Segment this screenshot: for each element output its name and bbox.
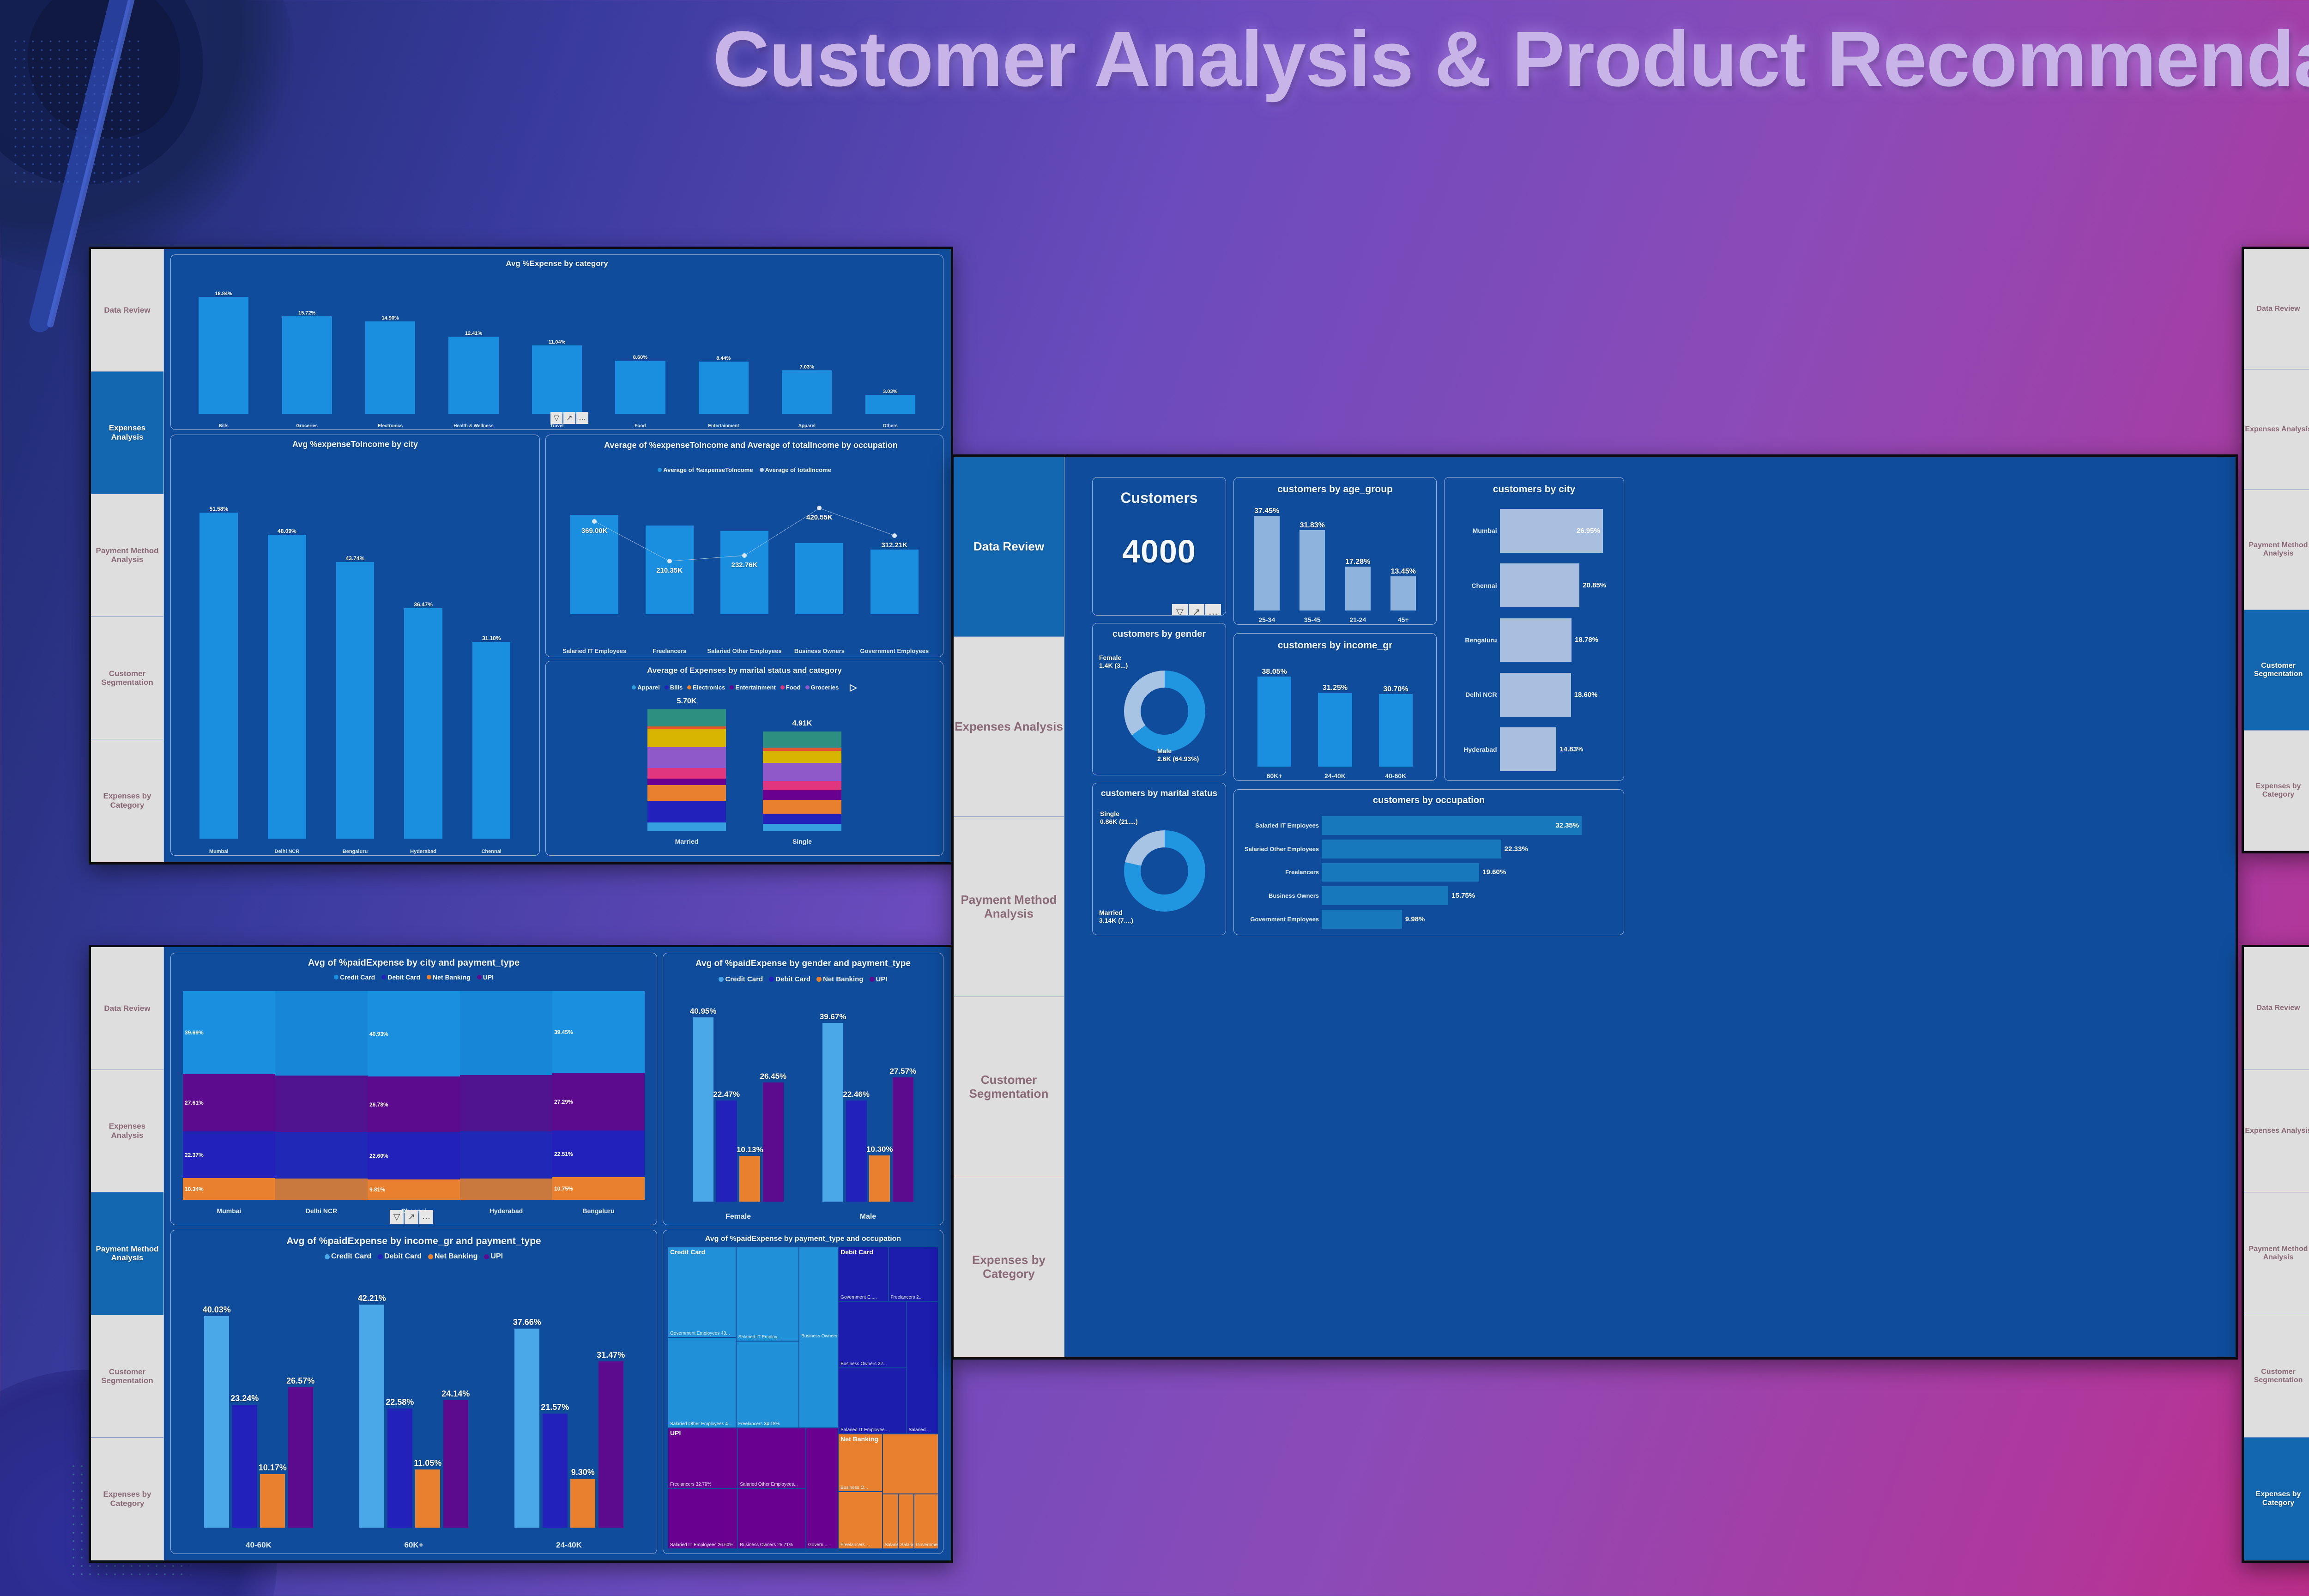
sidebar-item-expenses-analysis[interactable]: Expenses Analysis	[2244, 1070, 2309, 1193]
bar[interactable]	[615, 361, 665, 414]
treemap-cell[interactable]: Freelancers 2...	[889, 1247, 938, 1301]
bar-value-label: 13.45%	[1391, 568, 1416, 576]
treemap-group: Credit CardGovernment Employees 43...Sal…	[668, 1247, 838, 1428]
treemap-cell[interactable]: Salarie...	[882, 1494, 898, 1549]
bar-group[interactable]: 38.05%60K+	[1244, 658, 1305, 767]
bar-category-label: Bengaluru	[534, 1207, 657, 1215]
stacked-bar-column[interactable]: 5.70KMarried	[647, 709, 726, 831]
treemap-cell[interactable]: Business Owners 25.71%	[737, 1488, 806, 1549]
sidebar-item-expenses-by-category[interactable]: Expenses by Category	[954, 1177, 1064, 1357]
bar[interactable]	[288, 1387, 313, 1528]
line-value-label: 312.21K	[857, 541, 932, 549]
bar-wrapper: 40.03%	[204, 1316, 229, 1528]
chart-title: Avg %Expense by category	[171, 259, 943, 268]
stacked-segment[interactable]	[647, 785, 726, 801]
stacked-bar-column[interactable]: Delhi NCR	[275, 991, 368, 1200]
bar-category-label: Government Employees	[857, 648, 932, 655]
legend-swatch	[632, 685, 636, 689]
legend-label: Apparel	[637, 684, 659, 691]
donut-hole	[1141, 847, 1188, 895]
chart-title: Avg of %paidExpense by gender and paymen…	[663, 959, 943, 969]
stacked-segment[interactable]	[763, 800, 841, 814]
sidebar-item-expenses-analysis[interactable]: Expenses Analysis	[91, 1070, 163, 1193]
treemap-cell[interactable]: UPIFreelancers 32.79%	[668, 1428, 737, 1488]
bar-wrapper: 37.66%	[514, 1329, 539, 1528]
treemap-cell-label: Salaried IT Employ...	[738, 1335, 781, 1340]
bar[interactable]	[1318, 693, 1352, 767]
bar-row[interactable]: Salaried Other Employees22.33%	[1238, 840, 1620, 858]
bar[interactable]	[532, 345, 582, 414]
bar[interactable]	[1322, 863, 1479, 882]
treemap-left-column: Credit CardGovernment Employees 43...Sal…	[668, 1247, 838, 1549]
bar-group[interactable]: 11.04%Travel	[515, 277, 598, 414]
treemap-subcolumn: Salaried IT Employ...Freelancers 34.18%	[736, 1247, 799, 1428]
stacked-segment[interactable]: 9.81%	[368, 1179, 460, 1200]
bar[interactable]	[415, 1469, 440, 1528]
bar-row[interactable]: Delhi NCR18.60%	[1448, 673, 1620, 717]
legend-item[interactable]: Apparel	[632, 684, 659, 691]
legend-swatch	[427, 975, 431, 979]
stacked-segment[interactable]: 10.75%	[552, 1177, 645, 1200]
bar-value-label: 8.44%	[716, 356, 731, 361]
donut-callout-value: 1.4K (3...)	[1099, 662, 1128, 670]
chart-customers-by-occupation: customers by occupationSalaried IT Emplo…	[1233, 789, 1624, 935]
stacked-segment[interactable]	[275, 1132, 368, 1179]
line-series	[557, 485, 932, 614]
bar[interactable]	[1257, 677, 1292, 767]
sidebar-item-expenses-by-category[interactable]: Expenses by Category	[2244, 1438, 2309, 1560]
bar-group[interactable]: 12.41%Health & Wellness	[432, 277, 515, 414]
legend-label: UPI	[483, 973, 494, 981]
treemap-cell[interactable]: Government Emp...	[914, 1494, 938, 1549]
bar-group[interactable]: 8.60%Food	[598, 277, 682, 414]
bar-group[interactable]: 3.03%Others	[849, 277, 932, 414]
focus-mode-icon[interactable]: ↗	[1189, 604, 1204, 616]
bar[interactable]	[260, 1474, 285, 1528]
stacked-segment[interactable]: 39.45%	[552, 991, 645, 1073]
line-marker[interactable]	[667, 559, 672, 563]
sidebar-item-payment-method-analysis[interactable]: Payment Method Analysis	[2244, 1192, 2309, 1315]
bar[interactable]	[199, 297, 248, 414]
legend-label: Net Banking	[823, 975, 864, 983]
stacked-segment[interactable]	[275, 991, 368, 1076]
sidebar-item-data-review[interactable]: Data Review	[91, 249, 163, 372]
bar[interactable]	[365, 321, 415, 414]
treemap-group: UPIFreelancers 32.79%Salaried IT Employe…	[668, 1428, 838, 1549]
stacked-segment[interactable]	[647, 779, 726, 785]
stacked-segment[interactable]	[460, 1131, 552, 1179]
legend-label: UPI	[490, 1252, 503, 1261]
sidebar-item-customer-segmentation[interactable]: Customer Segmentation	[2244, 1315, 2309, 1438]
legend-item[interactable]: Bills	[665, 684, 683, 691]
sidebar-item-data-review[interactable]: Data Review	[2244, 947, 2309, 1070]
bar[interactable]	[1300, 530, 1325, 611]
bar-category-label: Government Employees	[1238, 916, 1322, 923]
bar-value-label: 42.21%	[345, 1294, 399, 1303]
stacked-segment[interactable]	[460, 991, 552, 1075]
bar[interactable]	[448, 337, 498, 414]
bar[interactable]	[739, 1156, 760, 1202]
bar-value-label: 18.78%	[1572, 636, 1598, 644]
bar[interactable]	[893, 1077, 913, 1202]
legend-item[interactable]: Average of totalIncome	[760, 466, 831, 473]
bar[interactable]	[822, 1023, 843, 1202]
treemap-subcolumn: Business Owners 22...Salaried IT Employe…	[838, 1301, 906, 1434]
legend-item[interactable]: Entertainment	[730, 684, 775, 691]
sidebar-item-customer-segmentation[interactable]: Customer Segmentation	[91, 617, 163, 740]
bar-group[interactable]: 18.84%Bills	[182, 277, 265, 414]
stacked-bar-column[interactable]: 39.69%27.61%22.37%10.34%Mumbai	[183, 991, 275, 1200]
bar-total-label: 4.91K	[763, 719, 841, 728]
bar-category-label: Salaried IT Employees	[557, 648, 632, 655]
stacked-segment[interactable]	[647, 709, 726, 726]
donut-callout-label: Married3.14K (7....)	[1099, 909, 1133, 925]
bar-value-label: 22.58%	[373, 1397, 427, 1407]
chart-legend: ApparelBillsElectronicsEntertainmentFood…	[548, 682, 941, 693]
bar-value-label: 27.57%	[880, 1067, 926, 1076]
stacked-segment[interactable]	[763, 731, 841, 748]
stacked-bar-column[interactable]: 40.93%26.78%22.60%9.81%Chennai	[368, 991, 460, 1200]
bar-group[interactable]: 14.90%Electronics	[349, 277, 432, 414]
bar-category-label: Groceries	[261, 423, 352, 429]
bar[interactable]	[693, 1017, 713, 1202]
bar-group[interactable]: 37.66%21.57%9.30%31.47%24-40K	[491, 1276, 647, 1528]
bar[interactable]	[514, 1329, 539, 1528]
chart-paid-expense-by-payment-type-and-occupation: Avg of %paidExpense by payment_type and …	[663, 1230, 943, 1554]
treemap-cell[interactable]: Salarie...	[898, 1494, 914, 1549]
sidebar-item-expenses-analysis[interactable]: Expenses Analysis	[2244, 369, 2309, 490]
sidebar-item-payment-method-analysis[interactable]: Payment Method Analysis	[91, 494, 163, 617]
legend-label: Credit Card	[331, 1252, 371, 1261]
bar-category-label: Salaried IT Employees	[1238, 822, 1322, 829]
line-marker[interactable]	[742, 553, 747, 558]
legend-swatch	[325, 1254, 330, 1259]
legend-item[interactable]: UPI	[484, 1252, 503, 1261]
bar-category-label: 60K+	[336, 1541, 491, 1550]
treemap-cell[interactable]: Freelancers ...	[838, 1492, 882, 1549]
stacked-segment[interactable]: 22.60%	[368, 1132, 460, 1179]
bar[interactable]: 26.95%	[1500, 509, 1603, 553]
bar-group[interactable]: 8.44%Entertainment	[682, 277, 765, 414]
kpi-value: 4000	[1093, 533, 1226, 570]
treemap-cell[interactable]: Business Owners ...	[799, 1247, 838, 1428]
treemap-subcolumn: Net BankingBusiness O...Freelancers ...	[838, 1434, 882, 1549]
bar-row[interactable]: Bengaluru18.78%	[1448, 618, 1620, 662]
line-value-label: 420.55K	[782, 514, 857, 521]
chart-customers-by-marital-status: customers by marital statusSingle0.86K (…	[1092, 783, 1226, 935]
bar-wrapper: 11.05%	[415, 1469, 440, 1528]
line-marker[interactable]	[592, 519, 597, 524]
bar-value-label: 22.46%	[834, 1090, 879, 1099]
stacked-segment[interactable]: 22.37%	[183, 1131, 275, 1178]
sidebar-item-customer-segmentation[interactable]: Customer Segmentation	[91, 1315, 163, 1438]
bar-group[interactable]: 30.70%40-60K	[1366, 658, 1426, 767]
bar-group[interactable]: 13.45%45+	[1381, 500, 1427, 611]
bar-category-label: Health & Wellness	[428, 423, 519, 429]
treemap-plot: Credit CardGovernment Employees 43...Sal…	[668, 1247, 938, 1549]
bar[interactable]	[1322, 840, 1501, 858]
treemap-cell[interactable]: Salaried Other Employees 4...	[668, 1337, 736, 1428]
bar-category-label: 24-40K	[491, 1541, 647, 1550]
chart-customers-by-age-group: customers by age_group37.45%25-3431.83%3…	[1233, 477, 1437, 625]
stacked-segment[interactable]	[763, 814, 841, 824]
more-options-icon[interactable]: …	[576, 412, 588, 424]
legend-item[interactable]: Debit Card	[381, 973, 420, 981]
stacked-bar-column[interactable]: 4.91KSingle	[763, 731, 841, 831]
stacked-bar-column[interactable]: Hyderabad	[460, 991, 552, 1200]
bar-value-label: 9.98%	[1402, 915, 1425, 923]
treemap-group-label: Credit Card	[670, 1248, 705, 1256]
bar[interactable]	[598, 1361, 623, 1528]
more-options-icon[interactable]: …	[419, 1210, 433, 1224]
bar-value-label: 26.57%	[273, 1376, 328, 1386]
sidebar-item-payment-method-analysis[interactable]: Payment Method Analysis	[2244, 490, 2309, 611]
filter-icon[interactable]: ▽	[390, 1210, 404, 1224]
treemap-cell[interactable]: Salaried Other Employees...	[737, 1428, 806, 1488]
bar[interactable]	[472, 642, 511, 839]
sidebar-item-customer-segmentation[interactable]: Customer Segmentation	[2244, 610, 2309, 731]
bar[interactable]	[336, 562, 375, 839]
bar-value-label: 40.95%	[680, 1007, 726, 1016]
bar-group[interactable]: 31.25%24-40K	[1305, 658, 1365, 767]
bar[interactable]	[1500, 727, 1557, 771]
legend-item[interactable]: Credit Card	[325, 1252, 371, 1261]
bar-group[interactable]: 7.03%Apparel	[765, 277, 848, 414]
treemap-group-label: Net Banking	[840, 1435, 878, 1443]
sidebar-item-expenses-by-category[interactable]: Expenses by Category	[91, 739, 163, 862]
bar-value-label: 37.45%	[1254, 507, 1279, 515]
treemap-group: Net BankingBusiness O...Freelancers ...S…	[838, 1434, 938, 1549]
treemap-cell[interactable]: Business Owners 22...	[838, 1301, 906, 1368]
bar[interactable]	[204, 1316, 229, 1528]
bar-group[interactable]: 43.74%Bengaluru	[321, 457, 389, 839]
sidebar-item-customer-segmentation[interactable]: Customer Segmentation	[954, 997, 1064, 1177]
bar-row[interactable]: Hyderabad14.83%	[1448, 727, 1620, 771]
bar[interactable]	[1500, 618, 1572, 662]
bar-value-label: 20.85%	[1579, 581, 1606, 589]
stacked-segment[interactable]: 40.93%	[368, 991, 460, 1076]
bar-row[interactable]: Government Employees9.98%	[1238, 910, 1620, 929]
filter-icon[interactable]: ▽	[1172, 604, 1188, 616]
sidebar-item-payment-method-analysis[interactable]: Payment Method Analysis	[954, 817, 1064, 997]
donut-chart[interactable]	[1124, 830, 1205, 912]
bar-wrapper: 9.30%	[570, 1479, 595, 1528]
bar-row[interactable]: Salaried IT Employees32.35%	[1238, 816, 1620, 835]
treemap-subcolumn: Credit CardGovernment Employees 43...Sal…	[668, 1247, 736, 1428]
stacked-segment[interactable]: 39.69%	[183, 991, 275, 1074]
bar[interactable]	[869, 1155, 890, 1202]
bar[interactable]	[865, 395, 915, 414]
bar-value-label: 30.70%	[1383, 685, 1408, 694]
bar[interactable]	[1379, 694, 1413, 767]
sidebar-item-data-review[interactable]: Data Review	[2244, 249, 2309, 369]
stacked-segment[interactable]	[460, 1075, 552, 1131]
legend-next-icon[interactable]: ▷	[850, 682, 857, 693]
legend-item[interactable]: Average of %expenseToIncome	[658, 466, 753, 473]
bar[interactable]	[782, 370, 832, 414]
treemap-cell[interactable]: Govern.....	[806, 1428, 838, 1549]
chart-avg-expense-to-income-by-city: Avg %expenseToIncome by city51.58%Mumbai…	[170, 435, 540, 856]
bar-group[interactable]: 15.72%Groceries	[265, 277, 348, 414]
treemap-cell[interactable]	[882, 1434, 938, 1493]
report-nav: Data ReviewExpenses AnalysisPayment Meth…	[91, 947, 164, 1560]
treemap-subcolumn: UPIFreelancers 32.79%Salaried IT Employe…	[668, 1428, 737, 1549]
stacked-segment[interactable]	[275, 1076, 368, 1132]
treemap-cell-label: Salaried Other Employees...	[740, 1482, 798, 1487]
bar-row[interactable]: Mumbai26.95%	[1448, 509, 1620, 553]
treemap-cell[interactable]: Salaried IT Employ...	[736, 1247, 799, 1341]
treemap-cell[interactable]: Debit CardGovernment E.....	[838, 1247, 888, 1301]
sidebar-item-expenses-by-category[interactable]: Expenses by Category	[91, 1438, 163, 1560]
treemap-cell[interactable]: Salaried IT Employee...	[838, 1368, 906, 1434]
bar-group[interactable]: 36.47%Hyderabad	[389, 457, 458, 839]
line-value-label: 232.76K	[707, 561, 782, 569]
treemap-cell-label: Salarie...	[885, 1542, 898, 1548]
report-canvas: Avg %Expense by category18.84%Bills15.72…	[164, 249, 951, 862]
sidebar-item-expenses-analysis[interactable]: Expenses Analysis	[954, 637, 1064, 817]
bar-value-label: 21.57%	[528, 1403, 582, 1412]
stacked-segment[interactable]: 27.29%	[552, 1073, 645, 1130]
sidebar-item-expenses-analysis[interactable]: Expenses Analysis	[91, 372, 163, 495]
stacked-segment[interactable]	[647, 801, 726, 823]
stacked-segment[interactable]	[647, 747, 726, 768]
stacked-segment[interactable]: 10.34%	[183, 1178, 275, 1200]
bar[interactable]	[404, 608, 442, 839]
legend-swatch	[428, 1254, 433, 1259]
focus-mode-icon[interactable]: ↗	[405, 1210, 418, 1224]
stacked-segment[interactable]	[460, 1179, 552, 1200]
stacked-segment[interactable]: 27.61%	[183, 1074, 275, 1131]
donut-chart[interactable]	[1124, 671, 1205, 752]
bar[interactable]	[282, 316, 332, 414]
bar-group[interactable]: 31.10%Chennai	[457, 457, 526, 839]
treemap-cell[interactable]: Salaried ...	[907, 1301, 938, 1434]
bar-group[interactable]: 39.67%22.46%10.30%27.57%Male	[803, 997, 933, 1202]
stacked-segment[interactable]	[763, 790, 841, 800]
chart-legend: Credit CardDebit CardNet BankingUPI	[173, 973, 655, 981]
legend-item[interactable]: Food	[780, 684, 801, 691]
legend-item[interactable]: Net Banking	[428, 1252, 478, 1261]
stacked-bar-column[interactable]: 39.45%27.29%22.51%10.75%Bengaluru	[552, 991, 645, 1200]
stacked-segment[interactable]	[763, 751, 841, 763]
bar-chart-plot: 37.45%25-3431.83%35-4517.28%21-2413.45%4…	[1244, 500, 1426, 611]
bar-group[interactable]: 31.83%35-45	[1290, 500, 1336, 611]
sidebar-item-data-review[interactable]: Data Review	[954, 457, 1064, 637]
legend-item[interactable]: Credit Card	[719, 975, 763, 983]
legend-item[interactable]: Net Banking	[427, 973, 471, 981]
bar-group[interactable]: 17.28%21-24	[1335, 500, 1381, 611]
sidebar-item-payment-method-analysis[interactable]: Payment Method Analysis	[91, 1192, 163, 1315]
stacked-segment[interactable]	[275, 1179, 368, 1200]
treemap-cell[interactable]: Salaried IT Employees 26.60%	[668, 1488, 737, 1549]
bar-category-label: Food	[594, 423, 686, 429]
bar[interactable]: 32.35%	[1322, 816, 1582, 835]
bar-wrapper: 39.67%	[822, 1023, 843, 1202]
line-marker[interactable]	[892, 533, 897, 538]
bar-group[interactable]: 42.21%22.58%11.05%24.14%60K+	[336, 1276, 491, 1528]
bar[interactable]	[199, 513, 238, 839]
treemap-cell[interactable]: Net BankingBusiness O...	[838, 1434, 882, 1491]
stacked-segment[interactable]	[647, 822, 726, 831]
sidebar-item-data-review[interactable]: Data Review	[91, 947, 163, 1070]
bar[interactable]	[1322, 886, 1448, 905]
stacked-segment[interactable]	[647, 729, 726, 747]
filter-icon[interactable]: ▽	[550, 412, 562, 424]
stacked-segment[interactable]: 22.51%	[552, 1130, 645, 1178]
bar[interactable]	[1322, 910, 1402, 929]
legend-item[interactable]: Groceries	[805, 684, 839, 691]
bar-category-label: Single	[763, 838, 841, 845]
bar[interactable]	[1345, 567, 1371, 611]
legend-item[interactable]: Debit Card	[769, 975, 810, 983]
bar-wrapper: 40.95%	[693, 1017, 713, 1202]
chart-avg-expense-by-category: Avg %Expense by category18.84%Bills15.72…	[170, 254, 943, 430]
bar-value-label: 39.67%	[810, 1012, 856, 1022]
legend-swatch	[719, 977, 724, 982]
legend-item[interactable]: Electronics	[687, 684, 725, 691]
bar-row[interactable]: Chennai20.85%	[1448, 563, 1620, 607]
bar-row[interactable]: Freelancers19.60%	[1238, 863, 1620, 882]
sidebar-item-expenses-by-category[interactable]: Expenses by Category	[2244, 731, 2309, 851]
bar[interactable]	[570, 1479, 595, 1528]
bar-wrapper: 22.58%	[387, 1409, 412, 1528]
bar[interactable]	[1254, 516, 1280, 611]
bar-value-label: 3.03%	[883, 389, 897, 394]
treemap-cell[interactable]: Credit CardGovernment Employees 43...	[668, 1247, 736, 1337]
combo-chart-plot: 369.00KSalaried IT Employees210.35KFreel…	[557, 485, 932, 614]
legend-item[interactable]: Debit Card	[378, 1252, 422, 1261]
bar[interactable]	[359, 1305, 384, 1528]
bar[interactable]	[763, 1082, 784, 1202]
bar-value-label: 38.05%	[1262, 668, 1287, 676]
chart-expense-to-income-and-total-income-by-occupation: Average of %expenseToIncome and Average …	[545, 435, 943, 657]
bar-group[interactable]: 48.09%Delhi NCR	[253, 457, 321, 839]
bar-category-label: 45+	[1378, 617, 1428, 623]
bar-group[interactable]: 40.95%22.47%10.13%26.45%Female	[673, 997, 803, 1202]
stacked-segment[interactable]	[763, 781, 841, 790]
bar[interactable]	[1500, 563, 1580, 607]
stacked-segment[interactable]: 26.78%	[368, 1076, 460, 1132]
legend-label: Entertainment	[735, 684, 775, 691]
bar-group[interactable]: 37.45%25-34	[1244, 500, 1290, 611]
treemap-cell[interactable]: Freelancers 34.18%	[736, 1341, 799, 1428]
bar-group[interactable]: 51.58%Mumbai	[185, 457, 253, 839]
treemap-subrow: Business Owners 22...Salaried IT Employe…	[838, 1301, 938, 1434]
focus-mode-icon[interactable]: ↗	[563, 412, 575, 424]
legend-item[interactable]: UPI	[477, 973, 494, 981]
chart-paid-expense-by-gender-and-payment-type: Avg of %paidExpense by gender and paymen…	[663, 953, 943, 1225]
bar[interactable]	[268, 535, 306, 839]
bar[interactable]	[387, 1409, 412, 1528]
legend-item[interactable]: UPI	[870, 975, 888, 983]
bar[interactable]	[1500, 673, 1571, 717]
bar-category-label: Hyderabad	[1448, 746, 1500, 753]
more-options-icon[interactable]: …	[1205, 604, 1221, 616]
bar[interactable]	[1390, 576, 1416, 611]
bar[interactable]	[699, 362, 749, 414]
stacked-segment[interactable]	[763, 763, 841, 781]
bar-category-label: Electronics	[345, 423, 436, 429]
legend-item[interactable]: Net Banking	[816, 975, 864, 983]
legend-item[interactable]: Credit Card	[334, 973, 375, 981]
bar-group[interactable]: 40.03%23.24%10.17%26.57%40-60K	[181, 1276, 336, 1528]
bar-value-label: 15.72%	[298, 310, 315, 316]
bar-row[interactable]: Business Owners15.75%	[1238, 886, 1620, 905]
bar-value-label: 51.58%	[209, 506, 228, 512]
stacked-segment[interactable]	[763, 824, 841, 831]
stacked-segment[interactable]	[647, 768, 726, 779]
bar[interactable]	[443, 1400, 468, 1528]
